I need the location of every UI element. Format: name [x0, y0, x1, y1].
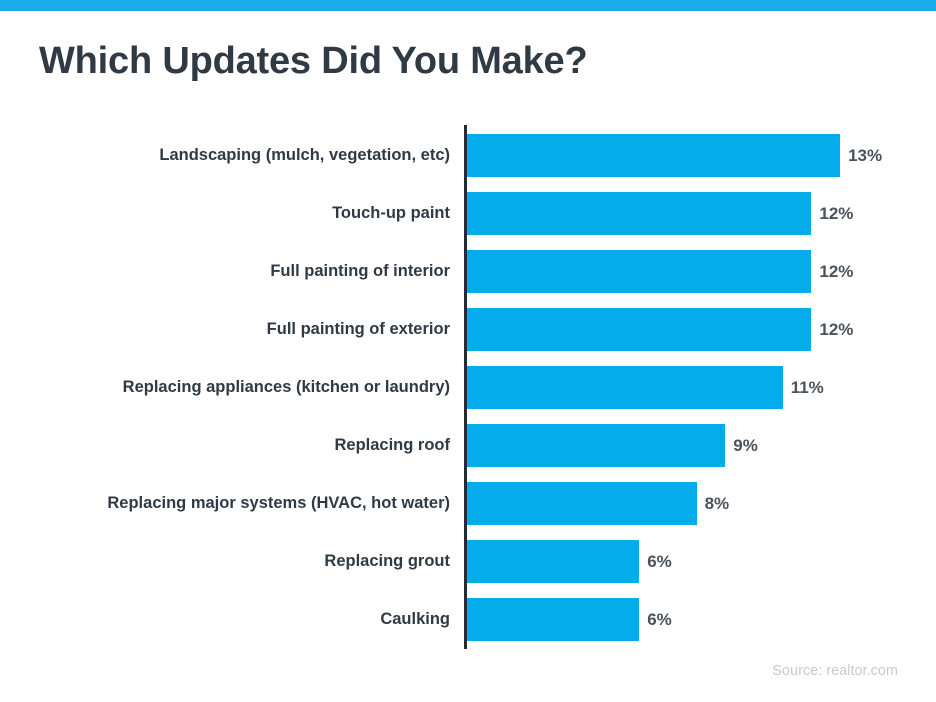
bar-value-label: 12% — [819, 250, 853, 293]
bar-rect[interactable] — [467, 134, 840, 177]
bar-rect[interactable] — [467, 598, 639, 641]
source-note: Source: realtor.com — [772, 663, 898, 679]
bar-value-label: 6% — [647, 598, 672, 641]
bar-value-label: 11% — [791, 366, 824, 409]
bar-row: Full painting of exterior12% — [0, 308, 936, 351]
bar-category-label: Landscaping (mulch, vegetation, etc) — [159, 134, 450, 177]
bar-category-label: Replacing major systems (HVAC, hot water… — [107, 482, 450, 525]
bar-row: Replacing appliances (kitchen or laundry… — [0, 366, 936, 409]
bar-value-label: 6% — [647, 540, 672, 583]
bar-category-label: Caulking — [380, 598, 450, 641]
bar-row: Replacing grout6% — [0, 540, 936, 583]
bar-chart-plot-area: Landscaping (mulch, vegetation, etc)13%T… — [0, 125, 936, 649]
top-accent-bar — [0, 0, 936, 11]
bar-row: Landscaping (mulch, vegetation, etc)13% — [0, 134, 936, 177]
page-title: Which Updates Did You Make? — [39, 40, 587, 83]
bar-category-label: Replacing appliances (kitchen or laundry… — [123, 366, 450, 409]
bar-category-label: Replacing roof — [334, 424, 450, 467]
bar-rect[interactable] — [467, 424, 725, 467]
bar-category-label: Replacing grout — [324, 540, 450, 583]
bar-rect[interactable] — [467, 366, 783, 409]
bar-row: Full painting of interior12% — [0, 250, 936, 293]
bar-value-label: 12% — [819, 192, 853, 235]
bar-row: Caulking6% — [0, 598, 936, 641]
bar-category-label: Full painting of interior — [270, 250, 450, 293]
bar-rect[interactable] — [467, 250, 811, 293]
bar-row: Touch-up paint12% — [0, 192, 936, 235]
bar-row: Replacing roof9% — [0, 424, 936, 467]
bar-category-label: Full painting of exterior — [267, 308, 450, 351]
bar-row: Replacing major systems (HVAC, hot water… — [0, 482, 936, 525]
bar-value-label: 13% — [848, 134, 882, 177]
bar-rect[interactable] — [467, 308, 811, 351]
bar-value-label: 12% — [819, 308, 853, 351]
bar-value-label: 9% — [733, 424, 758, 467]
bar-rect[interactable] — [467, 482, 697, 525]
bar-rect[interactable] — [467, 540, 639, 583]
bar-rect[interactable] — [467, 192, 811, 235]
bar-value-label: 8% — [705, 482, 730, 525]
bar-category-label: Touch-up paint — [332, 192, 450, 235]
